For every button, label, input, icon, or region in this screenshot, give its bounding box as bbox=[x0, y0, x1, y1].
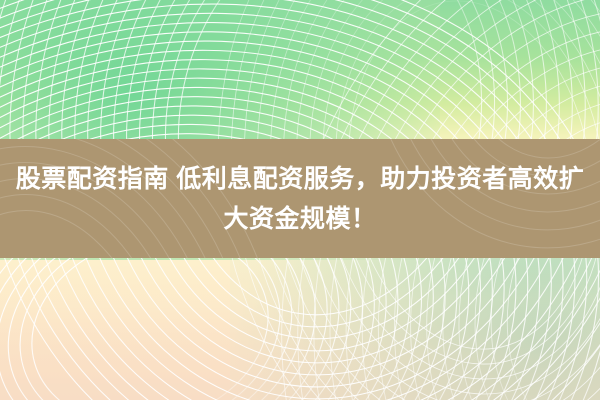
headline: 股票配资指南 低利息配资服务，助力投资者高效扩 大资金规模！ bbox=[0, 139, 600, 258]
background-peach-overlay bbox=[0, 255, 600, 400]
promo-banner: 股票配资指南 低利息配资服务，助力投资者高效扩 大资金规模！ bbox=[0, 0, 600, 400]
headline-line-1: 股票配资指南 低利息配资服务，助力投资者高效扩 bbox=[16, 159, 584, 199]
headline-line-2: 大资金规模！ bbox=[223, 199, 376, 239]
